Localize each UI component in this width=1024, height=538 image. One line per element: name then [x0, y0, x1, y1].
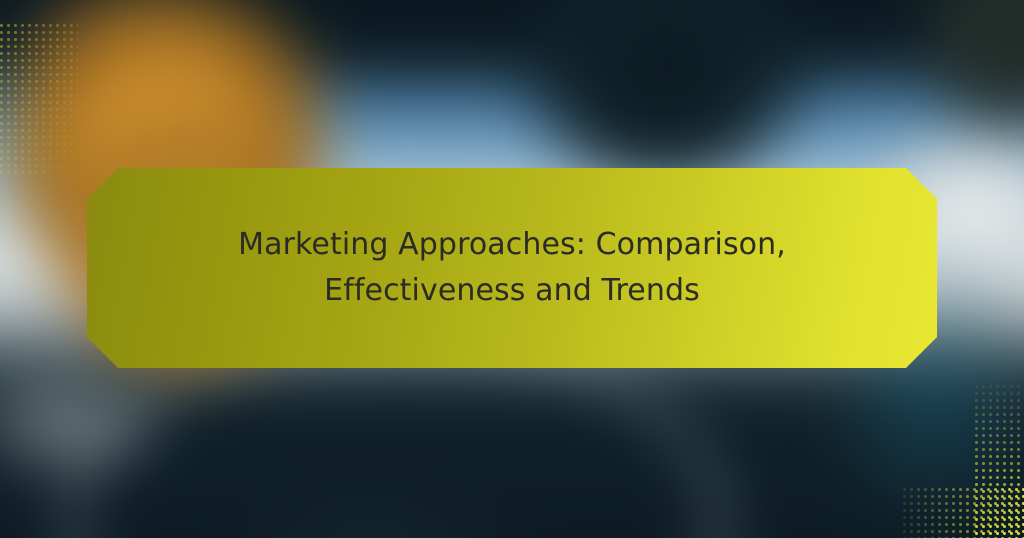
page-title: Marketing Approaches: Comparison, Effect…	[212, 222, 812, 313]
title-banner: Marketing Approaches: Comparison, Effect…	[87, 168, 937, 368]
slide-canvas: Marketing Approaches: Comparison, Effect…	[0, 0, 1024, 538]
background-left-highlight	[0, 358, 180, 488]
